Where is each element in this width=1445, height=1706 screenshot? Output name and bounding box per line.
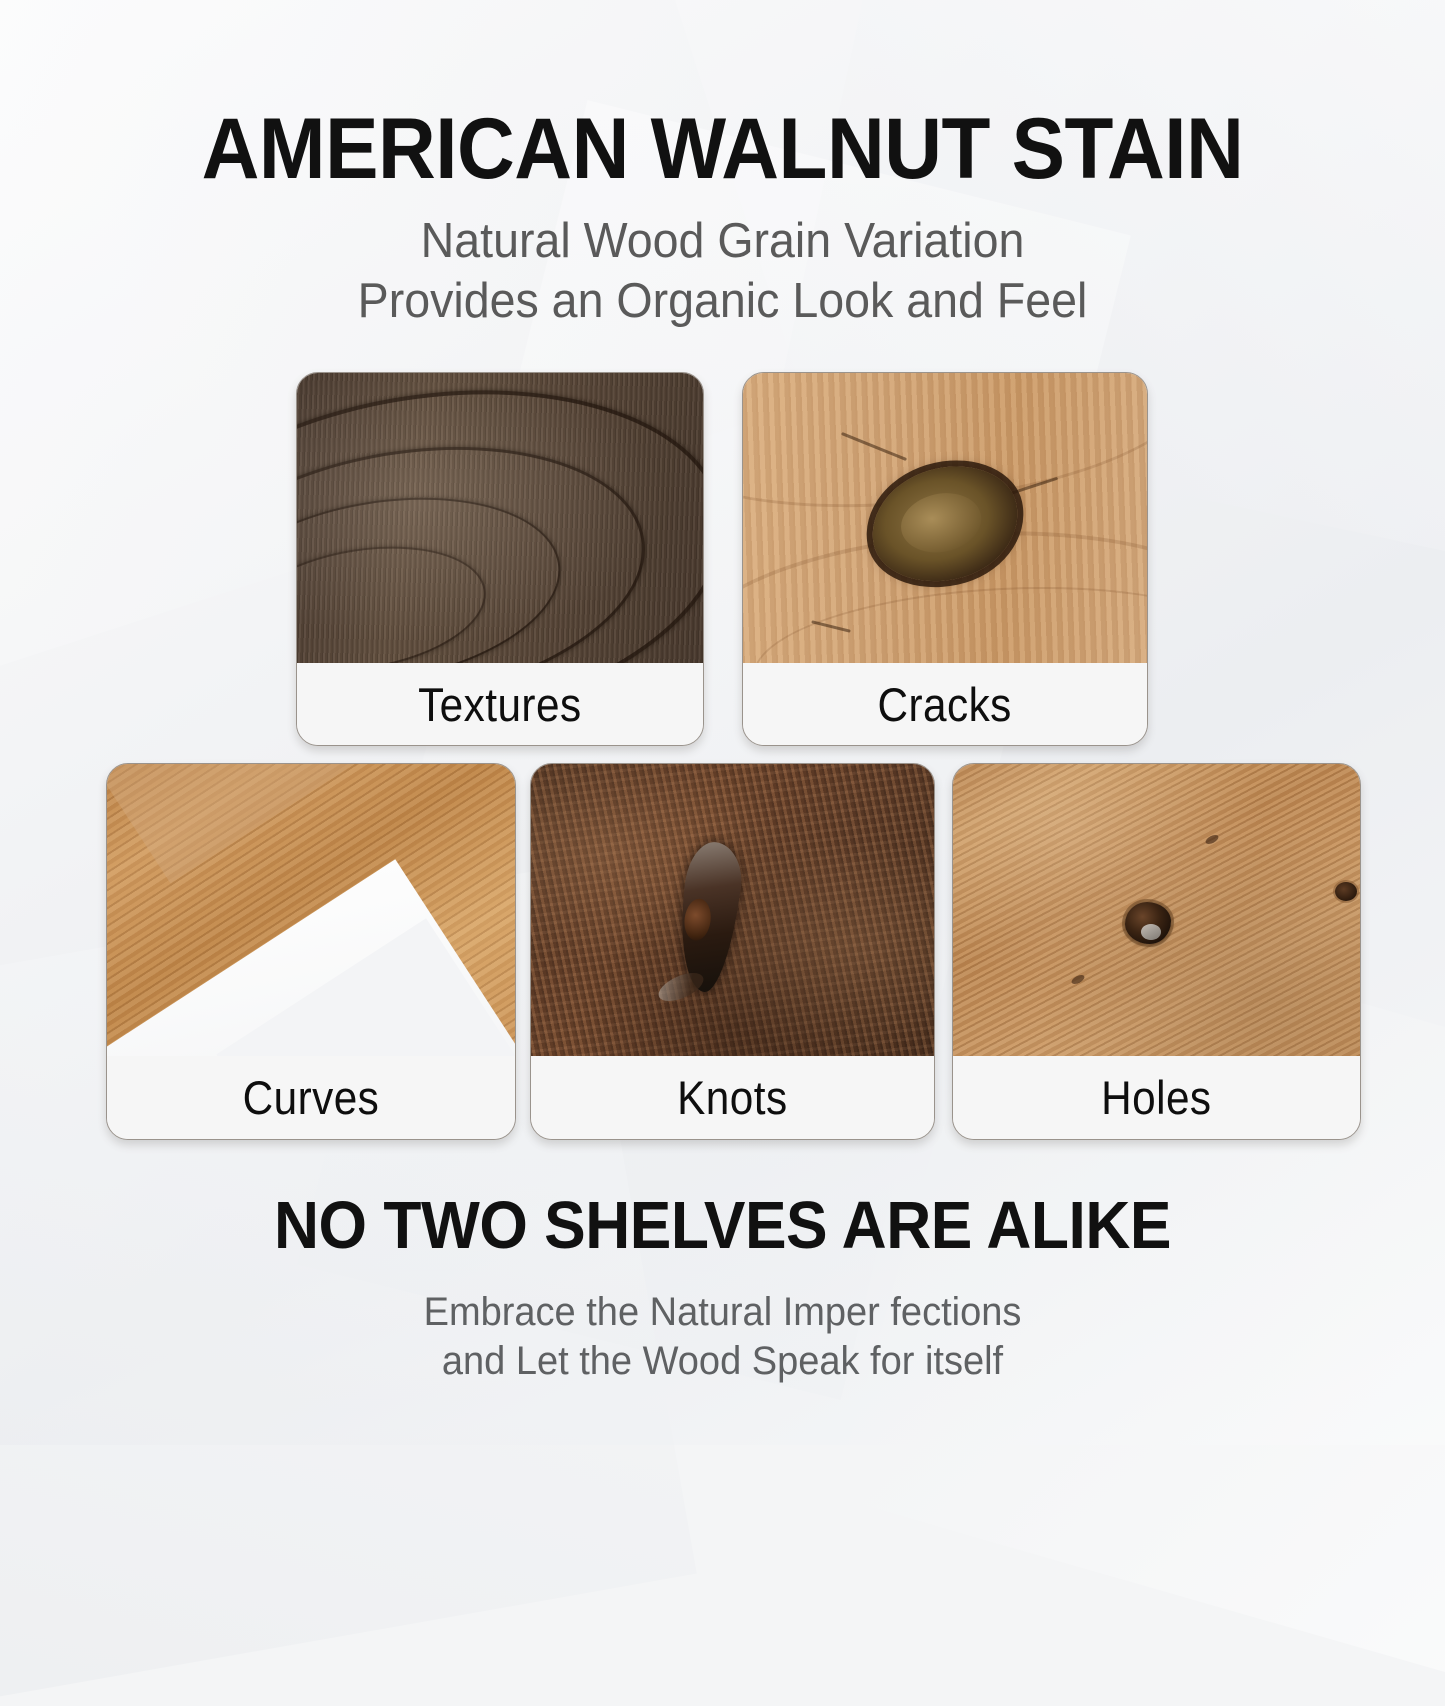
textures-label: Textures	[418, 677, 581, 732]
feature-card-holes[interactable]: Holes	[952, 763, 1361, 1140]
secondary-hole	[1335, 882, 1357, 901]
dark-walnut-grain-texture	[297, 373, 703, 663]
footer-title: NO TWO SHELVES ARE ALIKE	[51, 1192, 1395, 1259]
feature-card-knots[interactable]: Knots	[530, 763, 935, 1140]
curves-photo	[107, 764, 515, 1056]
footer-subtitle: Embrace the Natural Imper fections and L…	[36, 1288, 1409, 1386]
cracks-label-bar: Cracks	[743, 663, 1147, 745]
feature-card-curves[interactable]: Curves	[106, 763, 516, 1140]
footer-subtitle-line-2: and Let the Wood Speak for itself	[36, 1337, 1409, 1386]
page-title: AMERICAN WALNUT STAIN	[51, 106, 1395, 192]
upper-plank-face	[107, 764, 515, 883]
header-subtitle: Natural Wood Grain Variation Provides an…	[36, 212, 1409, 332]
header-subtitle-line-2: Provides an Organic Look and Feel	[36, 272, 1409, 332]
feature-card-textures[interactable]: Textures	[296, 372, 704, 746]
feature-card-cracks[interactable]: Cracks	[742, 372, 1148, 746]
knots-label: Knots	[677, 1070, 787, 1125]
curves-label: Curves	[243, 1070, 380, 1125]
center-hole	[1125, 902, 1171, 944]
textures-photo	[297, 373, 703, 663]
textures-label-bar: Textures	[297, 663, 703, 745]
curves-label-bar: Curves	[107, 1056, 515, 1139]
footer-subtitle-line-1: Embrace the Natural Imper fections	[36, 1288, 1409, 1337]
knots-label-bar: Knots	[531, 1056, 934, 1139]
medium-tan-grain-texture	[953, 764, 1360, 1056]
knots-photo	[531, 764, 934, 1056]
cracks-label: Cracks	[878, 677, 1012, 732]
header-subtitle-line-1: Natural Wood Grain Variation	[36, 212, 1409, 272]
golden-diagonal-grain-texture	[107, 764, 515, 1056]
infographic-content: AMERICAN WALNUT STAIN Natural Wood Grain…	[0, 0, 1445, 1445]
holes-photo	[953, 764, 1360, 1056]
texture-sheen	[297, 373, 703, 663]
reddish-brown-grain-texture	[531, 764, 934, 1056]
cracks-photo	[743, 373, 1147, 663]
holes-label-bar: Holes	[953, 1056, 1360, 1139]
light-tan-grain-texture	[743, 373, 1147, 663]
holes-label: Holes	[1101, 1070, 1211, 1125]
